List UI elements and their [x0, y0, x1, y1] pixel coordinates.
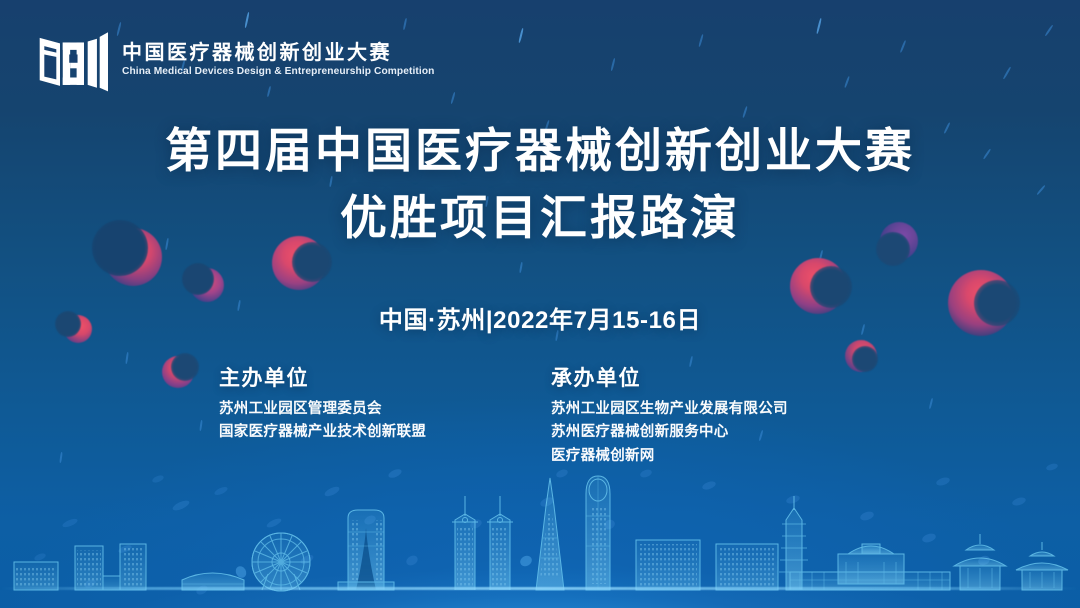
- poster-canvas: 中国医疗器械创新创业大赛 China Medical Devices Desig…: [0, 0, 1080, 608]
- organizer-entity: 苏州工业园区生物产业发展有限公司: [551, 398, 869, 421]
- city-skyline: [0, 458, 1080, 608]
- title-block: 第四届中国医疗器械创新创业大赛 优胜项目汇报路演: [0, 125, 1080, 244]
- main-title-line-2: 优胜项目汇报路演: [0, 192, 1080, 245]
- main-title-line-1: 第四届中国医疗器械创新创业大赛: [0, 125, 1080, 178]
- organizer-column-host: 主办单位 苏州工业园区管理委员会 国家医疗器械产业技术创新联盟: [211, 368, 537, 468]
- organizer-role-label: 承办单位: [551, 368, 869, 389]
- event-meta-line: 中国·苏州|2022年7月15-16日: [0, 300, 1080, 335]
- skyline-glow: [0, 516, 1080, 608]
- organizer-entity: 苏州医疗器械创新服务中心: [551, 421, 869, 444]
- brand-name-cn: 中国医疗器械创新创业大赛: [122, 43, 444, 63]
- brand-name-en: China Medical Devices Design & Entrepren…: [122, 66, 434, 77]
- skyline-ground-line: [0, 587, 1080, 590]
- organizer-entity: 苏州工业园区管理委员会: [219, 398, 537, 421]
- brand-text: 中国医疗器械创新创业大赛 China Medical Devices Desig…: [122, 43, 444, 77]
- sphere-crescent-small-left: [190, 268, 224, 302]
- organizer-column-coorganizer: 承办单位 苏州工业园区生物产业发展有限公司 苏州医疗器械创新服务中心 医疗器械创…: [537, 368, 869, 468]
- organizer-role-label: 主办单位: [219, 368, 537, 389]
- organizer-block: 主办单位 苏州工业园区管理委员会 国家医疗器械产业技术创新联盟 承办单位 苏州工…: [0, 368, 1080, 468]
- brand-lockup: 中国医疗器械创新创业大赛 China Medical Devices Desig…: [36, 26, 444, 94]
- organizer-entity: 国家医疗器械产业技术创新联盟: [219, 421, 537, 444]
- open-door-window-logo-icon: [36, 26, 108, 94]
